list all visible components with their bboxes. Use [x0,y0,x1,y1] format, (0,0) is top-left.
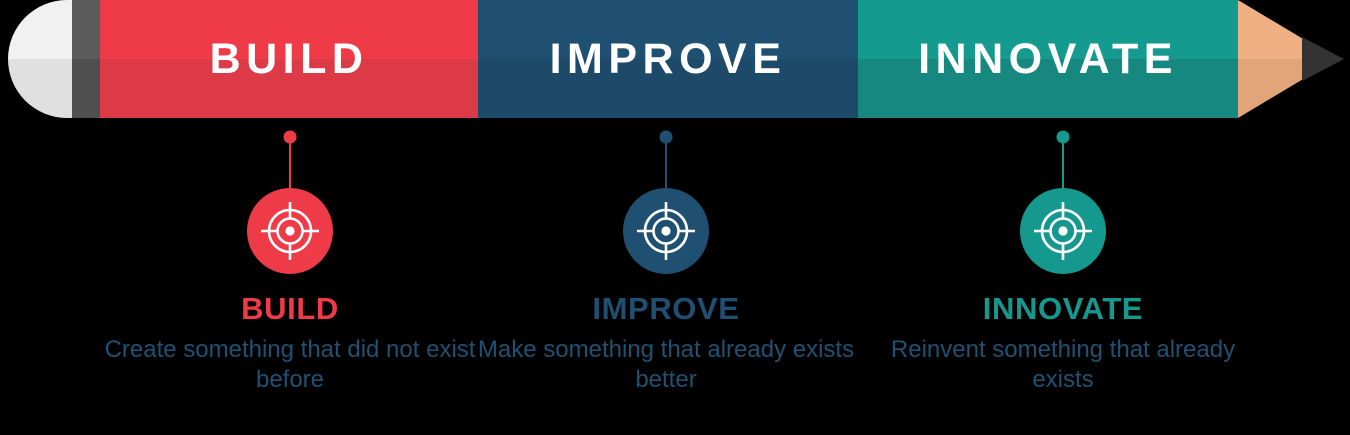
stage-badge-build[interactable] [247,188,333,274]
graphite-tip [1302,37,1344,81]
infographic-canvas: BUILD IMPROVE INNOVATE [0,0,1350,435]
pencil-banner: BUILD IMPROVE INNOVATE [0,0,1350,118]
stage-description-improve: Make something that already exists bette… [471,335,861,396]
connector-innovate [1056,130,1070,190]
target-icon [635,200,697,262]
ferrule [72,0,100,118]
connector-improve [659,130,673,190]
target-icon [259,200,321,262]
stage-title-innovate: INNOVATE [983,293,1143,324]
stage-description-innovate: Reinvent something that already exists [868,335,1258,396]
stage-description-build: Create something that did not exist befo… [95,335,485,396]
stage-title-improve: IMPROVE [592,293,739,324]
eraser [8,0,72,118]
stage-build: BUILD Create something that did not exis… [90,130,490,396]
pencil-segment-improve [478,0,858,118]
connector-build [283,130,297,190]
connector-line [665,137,667,190]
stage-title-build: BUILD [241,293,339,324]
pencil-segment-innovate [858,0,1238,118]
stage-innovate: INNOVATE Reinvent something that already… [863,130,1263,396]
pencil-segment-build [100,0,478,118]
connector-line [289,137,291,190]
stage-improve: IMPROVE Make something that already exis… [466,130,866,396]
stage-badge-innovate[interactable] [1020,188,1106,274]
connector-line [1062,137,1064,190]
target-icon [1032,200,1094,262]
stage-badge-improve[interactable] [623,188,709,274]
